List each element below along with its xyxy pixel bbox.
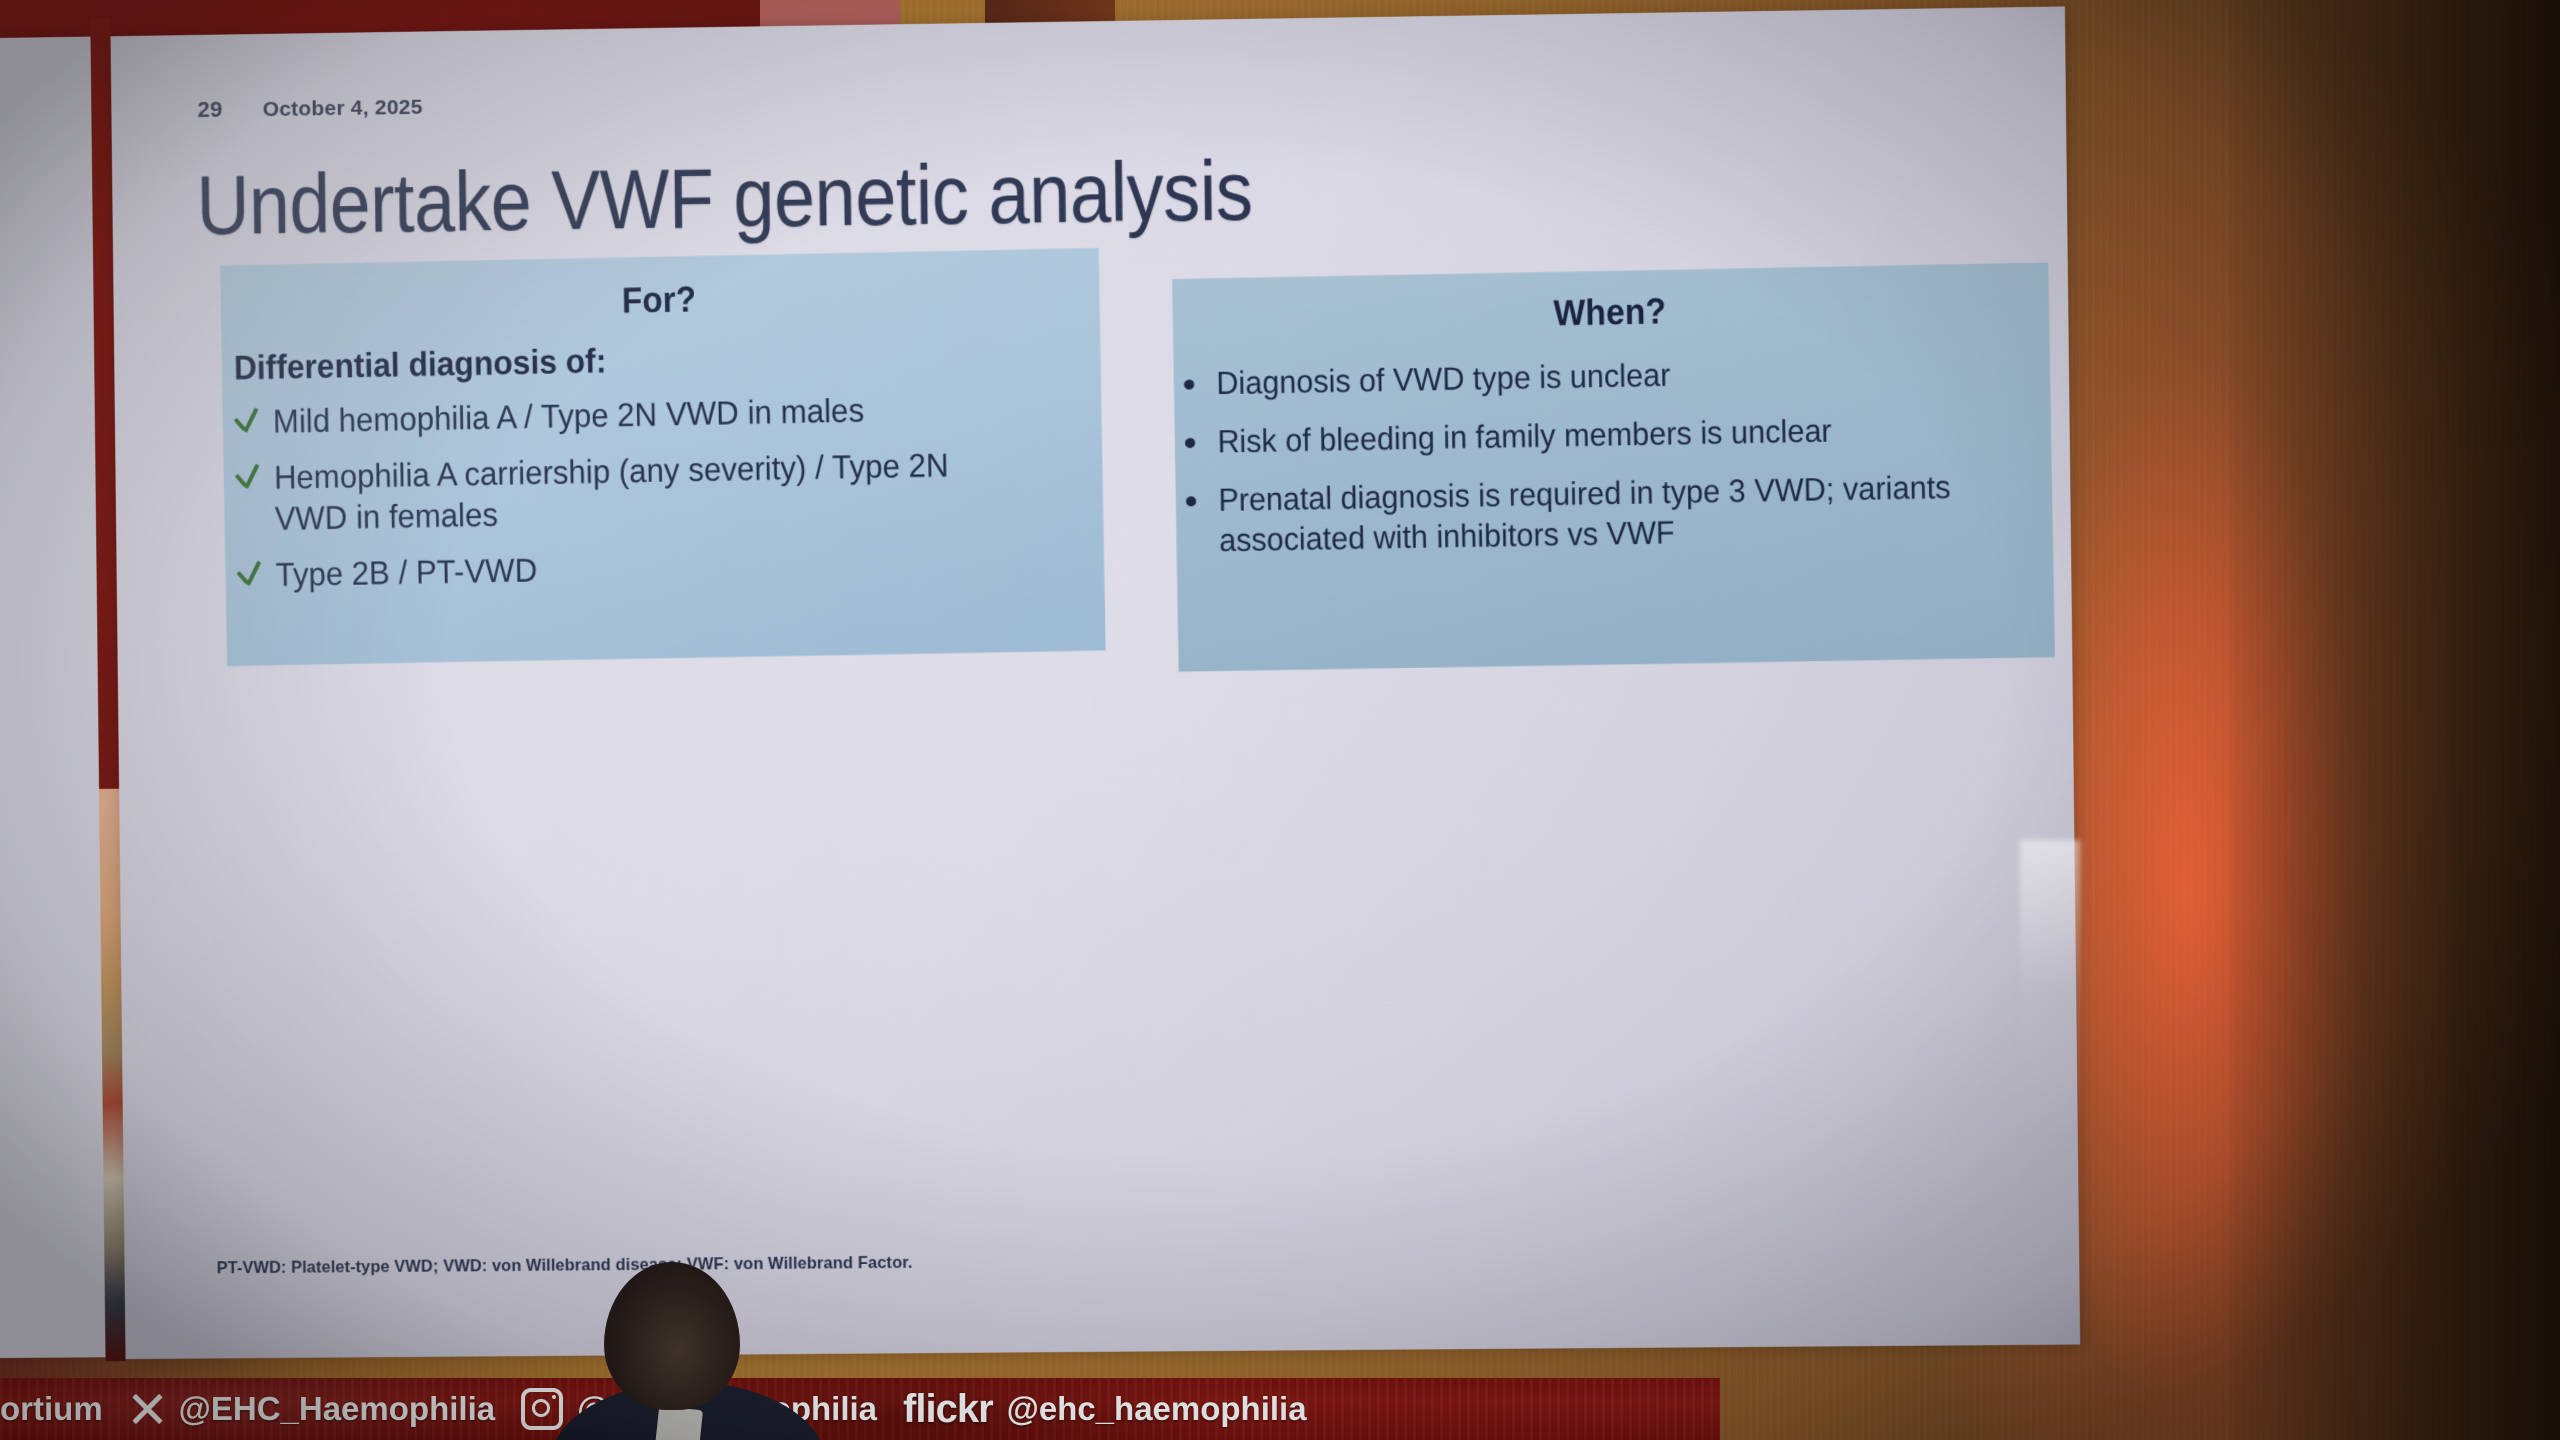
slide-title: Undertake VWF genetic analysis <box>196 142 1253 254</box>
panel-when: When? Diagnosis of VWD type is unclear R… <box>1172 263 2055 672</box>
presenter-head <box>604 1262 740 1410</box>
banner-flickr-handle: flickr @ehc_haemophilia <box>903 1387 1307 1432</box>
list-item: Hemophilia A carriership (any severity) … <box>234 444 1031 540</box>
check-icon <box>233 405 260 436</box>
presenter-silhouette <box>560 1262 800 1440</box>
bullet-dot-icon <box>1186 496 1196 506</box>
panel-for: For? Differential diagnosis of: Mild hem… <box>220 248 1106 666</box>
instagram-icon <box>521 1388 563 1430</box>
wall-shadow-right <box>2230 0 2560 1440</box>
list-item: Type 2B / PT-VWD <box>235 541 1031 596</box>
list-item: Diagnosis of VWD type is unclear <box>1184 348 1999 403</box>
banner-flickr-handle-label: @ehc_haemophilia <box>1007 1390 1307 1428</box>
bullet-dot-icon <box>1185 438 1195 448</box>
slide-header: 29 October 4, 2025 <box>197 94 422 123</box>
panel-left-list: Mild hemophilia A / Type 2N VWD in males… <box>233 386 1105 596</box>
event-banner: ortium @EHC_Haemophilia @ehc_haemophilia… <box>0 1378 1720 1440</box>
banner-partial-word: ortium <box>0 1390 103 1428</box>
photo-stage: 29 October 4, 2025 Undertake VWF genetic… <box>0 0 2560 1440</box>
check-icon <box>234 461 261 492</box>
banner-x-handle-label: @EHC_Haemophilia <box>179 1390 495 1428</box>
list-item: Prenatal diagnosis is required in type 3… <box>1186 466 2002 561</box>
screen-right-edge-highlight <box>2020 840 2080 1140</box>
list-item-text: Diagnosis of VWD type is unclear <box>1216 355 1671 404</box>
list-item: Risk of bleeding in family members is un… <box>1185 407 2001 462</box>
list-item-text: Risk of bleeding in family members is un… <box>1217 410 1832 461</box>
panel-left-subheading: Differential diagnosis of: <box>234 334 1040 389</box>
banner-x-handle: @EHC_Haemophilia <box>129 1390 495 1428</box>
list-item-text: Mild hemophilia A / Type 2N VWD in males <box>273 390 865 442</box>
presentation-slide: 29 October 4, 2025 Undertake VWF genetic… <box>111 6 2081 1359</box>
x-twitter-icon <box>129 1391 165 1427</box>
screen-left-blank-panel <box>0 37 106 1359</box>
projection-screen: 29 October 4, 2025 Undertake VWF genetic… <box>0 0 2113 1400</box>
slide-date: October 4, 2025 <box>262 96 422 122</box>
flickr-wordmark-icon: flickr <box>903 1387 993 1432</box>
panel-right-heading: When? <box>1207 283 2014 340</box>
list-item-text: Type 2B / PT-VWD <box>275 550 537 595</box>
list-item: Mild hemophilia A / Type 2N VWD in males <box>233 387 1029 443</box>
bullet-dot-icon <box>1184 379 1194 389</box>
slide-page-number: 29 <box>197 97 222 123</box>
banner-handles-row: ortium @EHC_Haemophilia @ehc_haemophilia… <box>0 1378 1720 1440</box>
panel-right-list: Diagnosis of VWD type is unclear Risk of… <box>1184 348 2053 561</box>
presenter-collar <box>653 1406 703 1440</box>
list-item-text: Prenatal diagnosis is required in type 3… <box>1218 467 1955 561</box>
check-icon <box>235 558 262 589</box>
panel-left-heading: For? <box>255 271 1064 329</box>
list-item-text: Hemophilia A carriership (any severity) … <box>274 445 985 539</box>
